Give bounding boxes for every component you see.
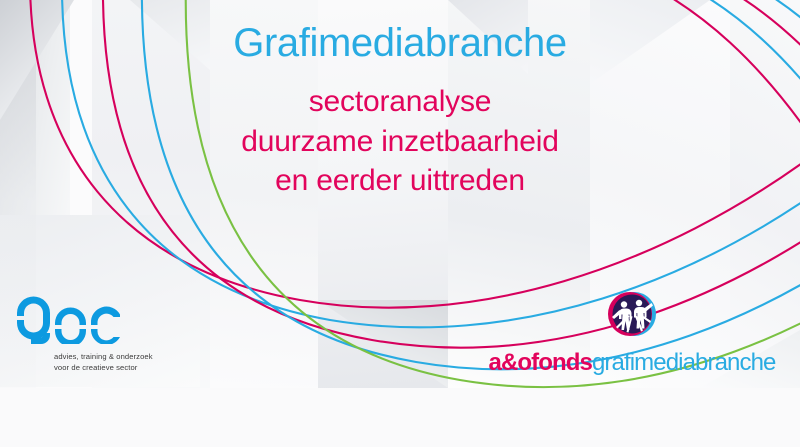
ao-fonds-figures-emblem-icon — [606, 288, 658, 340]
subtitle-line-1: sectoranalyse — [0, 82, 800, 122]
title-block: Grafimediabranche sectoranalyse duurzame… — [0, 22, 800, 201]
ao-fonds-word-primary: a&ofonds — [489, 349, 592, 376]
cover-page: Grafimediabranche sectoranalyse duurzame… — [0, 0, 800, 447]
ao-emblem-wrap — [482, 288, 782, 345]
goc-wordmark-icon — [16, 294, 122, 344]
subtitle-line-3: en eerder uittreden — [0, 161, 800, 201]
ao-fonds-word-secondary: grafimediabranche — [592, 349, 776, 376]
goc-logo: advies, training & onderzoek voor de cre… — [16, 294, 153, 374]
page-title: Grafimediabranche — [0, 22, 800, 64]
ao-fonds-logo: a&ofondsgrafimediabranche — [482, 288, 782, 375]
ao-fonds-wordmark: a&ofondsgrafimediabranche — [482, 351, 782, 375]
subtitle-line-2: duurzame inzetbaarheid — [0, 122, 800, 162]
goc-tagline: advies, training & onderzoek voor de cre… — [54, 351, 153, 374]
